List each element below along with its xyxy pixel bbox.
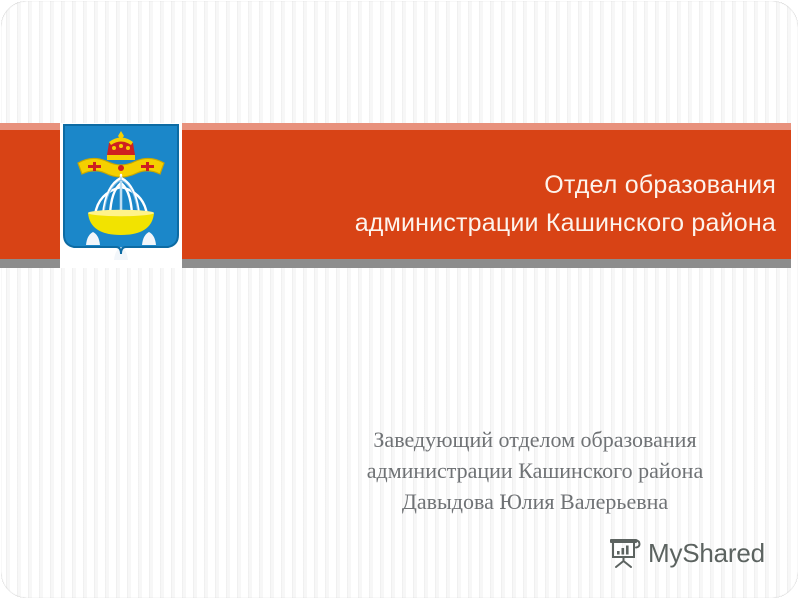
presentation-chart-icon — [607, 536, 641, 569]
slide-title: Отдел образования администрации Кашинско… — [196, 166, 776, 242]
myshared-watermark: MyShared — [607, 536, 765, 569]
presentation-slide: Отдел образования администрации Кашинско… — [0, 0, 800, 600]
subtitle-line-1: Заведующий отделом образования — [300, 424, 770, 455]
myshared-label: MyShared — [648, 540, 765, 566]
coat-of-arms-kashin-icon — [62, 123, 180, 268]
subtitle-line-2: администрации Кашинского района — [300, 455, 770, 486]
subtitle-line-3: Давыдова Юлия Валерьевна — [300, 486, 770, 517]
slide-subtitle: Заведующий отделом образования администр… — [300, 424, 770, 517]
